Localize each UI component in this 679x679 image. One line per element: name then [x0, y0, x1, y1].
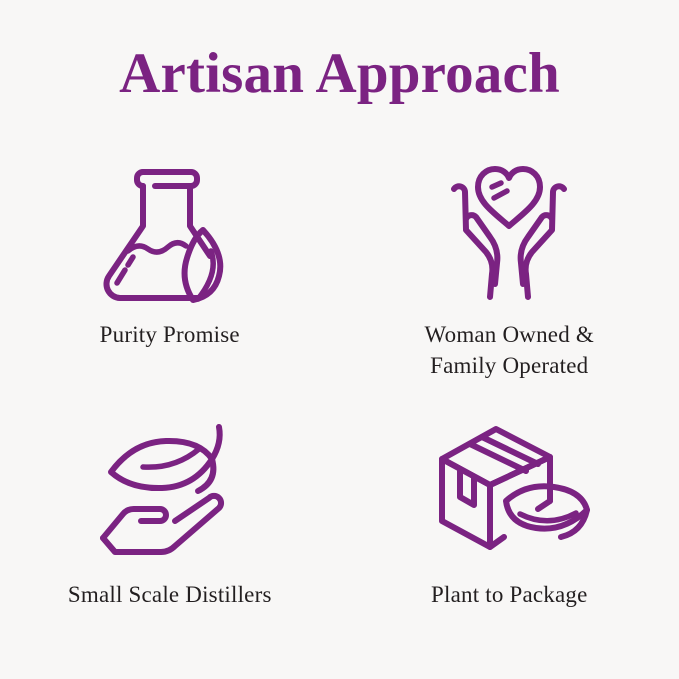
feature-item-small-scale-distillers: Small Scale Distillers: [0, 392, 340, 632]
feature-grid: Purity Promise: [0, 152, 679, 632]
hand-leaf-icon: [95, 426, 245, 554]
feature-label: Purity Promise: [100, 320, 240, 351]
feature-label: Woman Owned & Family Operated: [425, 320, 594, 381]
feature-item-woman-owned: Woman Owned & Family Operated: [340, 152, 679, 392]
hands-heart-icon: [434, 156, 584, 306]
feature-item-purity-promise: Purity Promise: [0, 152, 340, 392]
flask-leaf-icon: [95, 156, 245, 306]
box-leaf-icon: [434, 426, 584, 554]
page-title: Artisan Approach: [0, 44, 679, 104]
feature-label: Plant to Package: [431, 580, 588, 611]
feature-label: Small Scale Distillers: [68, 580, 272, 611]
artisan-approach-panel: Artisan Approach: [0, 0, 679, 679]
feature-item-plant-to-package: Plant to Package: [340, 392, 679, 632]
